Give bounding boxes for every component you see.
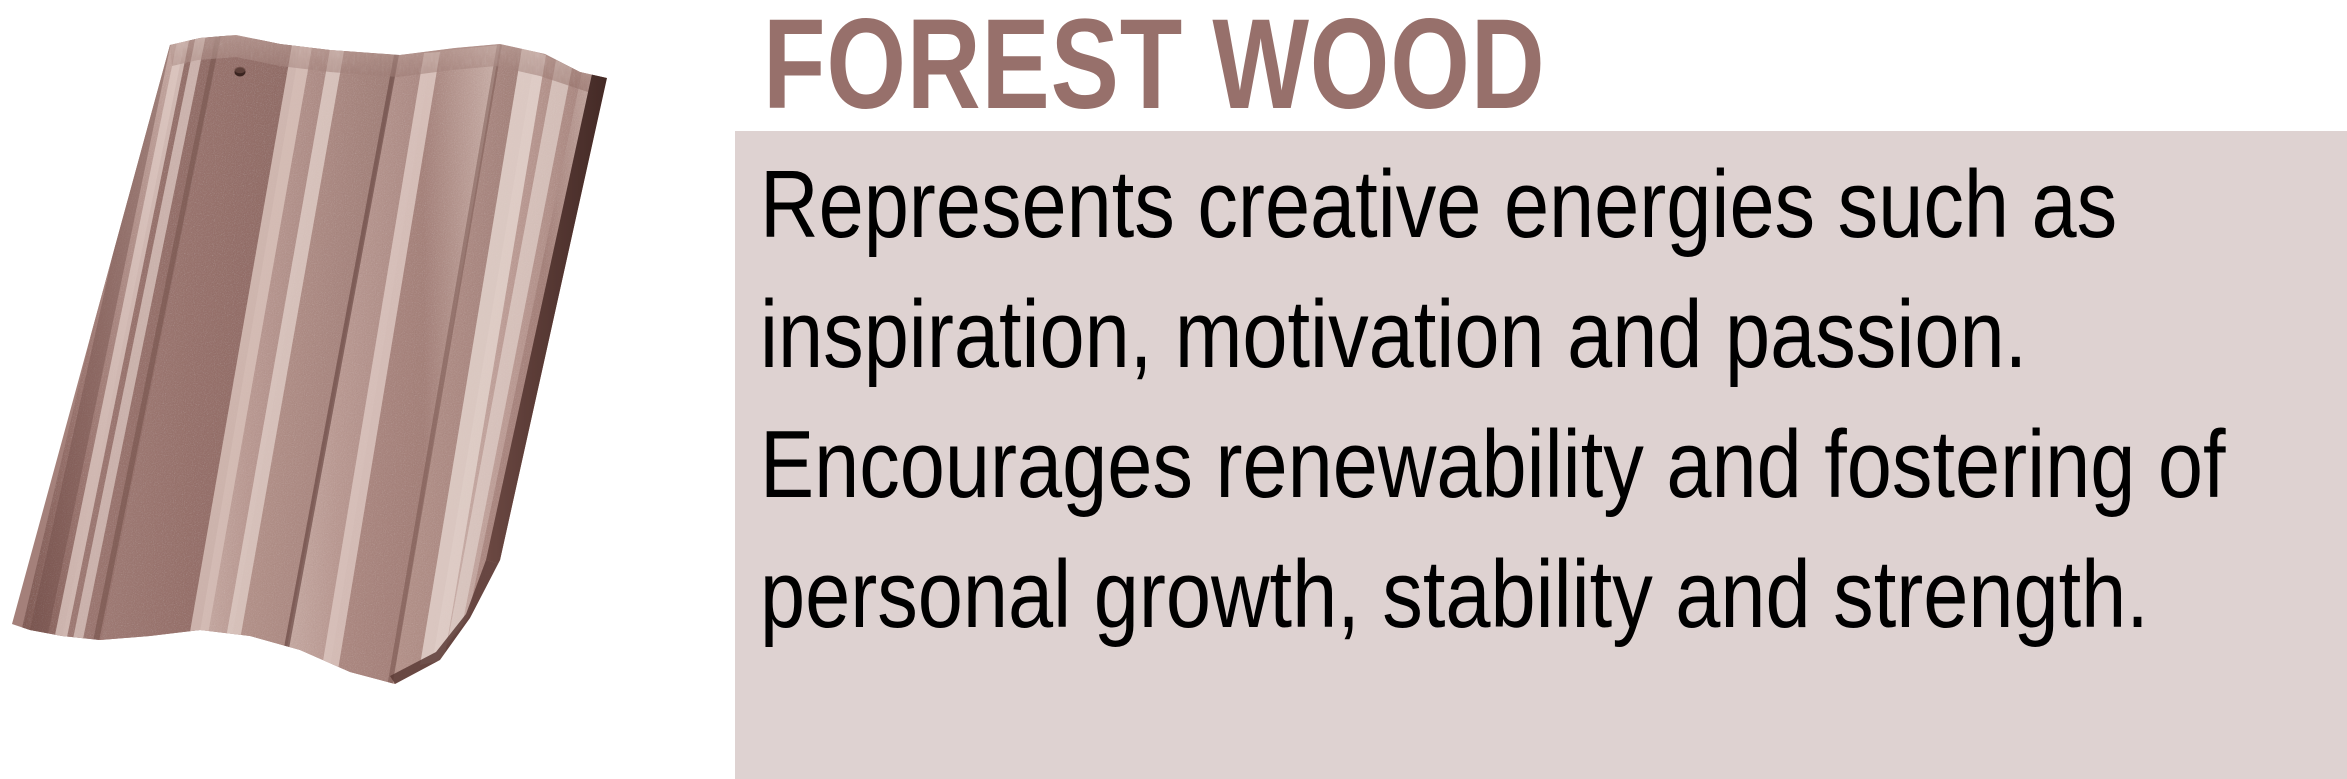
description-line-1: Represents creative energies such as [760,140,2078,270]
description-line-3: Encourages renewability and fostering of [760,400,2078,530]
title-zone: FOREST WOOD [735,0,2347,131]
page-title: FOREST WOOD [763,6,1545,124]
product-feature-card: FOREST WOOD Represents creative energies… [0,0,2347,779]
description-panel: Represents creative energies such as ins… [735,131,2347,779]
description-text-block: Represents creative energies such as ins… [760,140,2320,660]
description-line-2: inspiration, motivation and passion. [760,270,2078,400]
roof-tile-photo [0,0,735,779]
nail-hole-rim [235,67,246,73]
product-text-column: FOREST WOOD Represents creative energies… [735,0,2347,779]
description-line-4: personal growth, stability and strength. [760,530,2078,660]
roof-tile-illustration [0,0,735,779]
tile-body [0,0,735,779]
